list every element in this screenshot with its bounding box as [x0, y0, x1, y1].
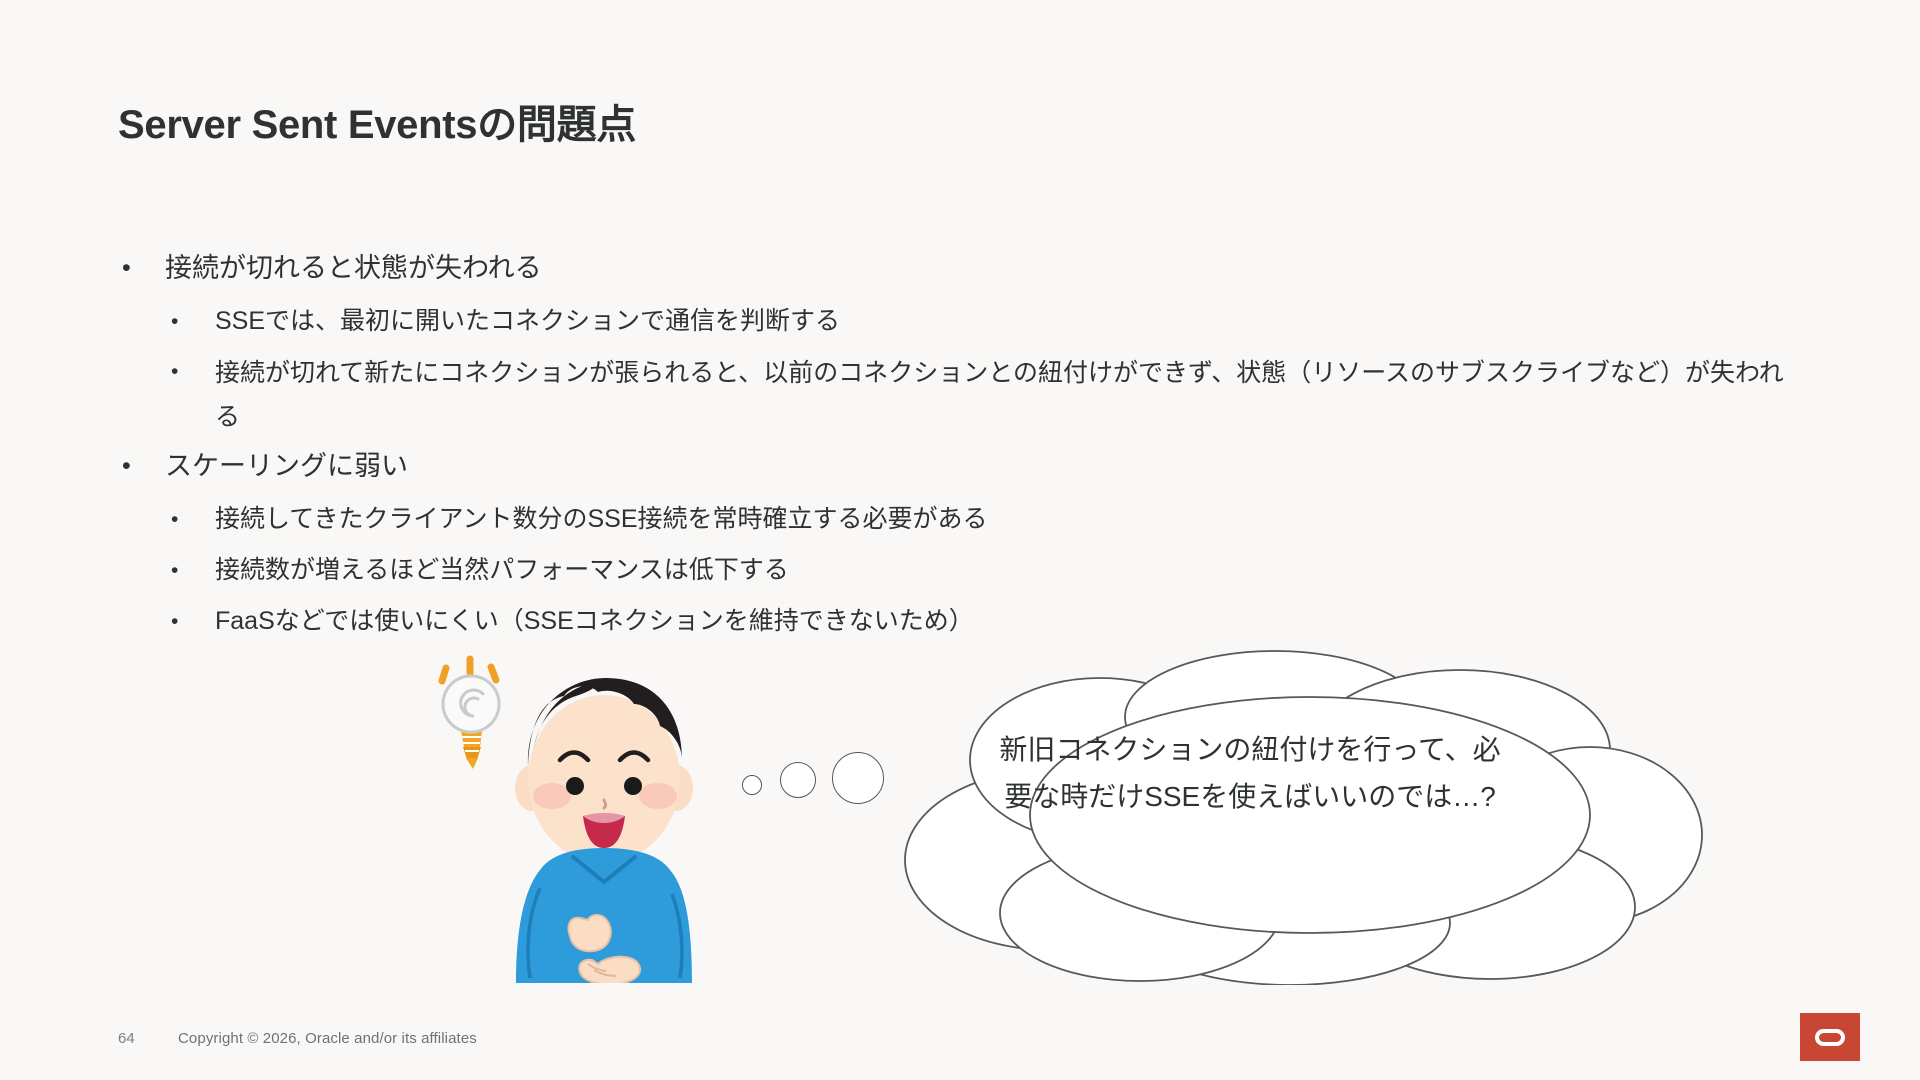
list-item-label: 接続が切れると状態が失われる — [165, 243, 542, 293]
bullet-marker: • — [171, 348, 215, 395]
list-item-label: 接続してきたクライアント数分のSSE接続を常時確立する必要がある — [215, 495, 988, 544]
thought-dot-large — [832, 752, 884, 804]
thought-dot-small — [742, 775, 762, 795]
hand-lower — [579, 957, 640, 983]
list-item-label: SSEでは、最初に開いたコネクションで通信を判断する — [215, 297, 840, 346]
thought-dot-medium — [780, 762, 816, 798]
list-item: • FaaSなどでは使いにくい（SSEコネクションを維持できないため） — [118, 597, 1798, 646]
thought-bubble-text: 新旧コネクションの紐付けを行って、必要な時だけSSEを使えばいいのでは…? — [990, 726, 1510, 820]
thinking-boy-illustration — [420, 648, 720, 983]
list-item-label: FaaSなどでは使いにくい（SSEコネクションを維持できないため） — [215, 597, 974, 646]
list-item-label: 接続が切れて新たにコネクションが張られると、以前のコネクションとの紐付けができず… — [215, 348, 1798, 439]
copyright-notice: Copyright © 2026, Oracle and/or its affi… — [178, 1030, 477, 1047]
bullet-marker: • — [171, 546, 215, 595]
slide-canvas: Server Sent Eventsの問題点 • 接続が切れると状態が失われる … — [0, 0, 1920, 1080]
list-item: • 接続が切れて新たにコネクションが張られると、以前のコネクションとの紐付けがで… — [118, 348, 1798, 439]
list-item: • SSEでは、最初に開いたコネクションで通信を判断する — [118, 297, 1798, 346]
list-item: • スケーリングに弱い — [118, 441, 1798, 491]
hand-upper — [568, 915, 610, 951]
list-item-label: 接続数が増えるほど当然パフォーマンスは低下する — [215, 546, 789, 595]
oracle-logo — [1800, 1013, 1860, 1061]
bullet-marker: • — [171, 297, 215, 346]
lightbulb-icon — [443, 676, 499, 732]
list-item: • 接続してきたクライアント数分のSSE接続を常時確立する必要がある — [118, 495, 1798, 544]
oracle-o-icon — [1815, 1029, 1845, 1046]
bullet-list: • 接続が切れると状態が失われる • SSEでは、最初に開いたコネクションで通信… — [118, 243, 1798, 648]
list-item: • 接続が切れると状態が失われる — [118, 243, 1798, 293]
page-title: Server Sent Eventsの問題点 — [118, 92, 636, 150]
list-item: • 接続数が増えるほど当然パフォーマンスは低下する — [118, 546, 1798, 595]
bullet-marker: • — [118, 243, 165, 293]
bullet-marker: • — [171, 597, 215, 646]
page-number: 64 — [118, 1030, 135, 1047]
bulb-base-icon — [461, 731, 482, 769]
list-item-label: スケーリングに弱い — [165, 441, 408, 491]
bullet-marker: • — [118, 441, 165, 491]
bullet-marker: • — [171, 495, 215, 544]
